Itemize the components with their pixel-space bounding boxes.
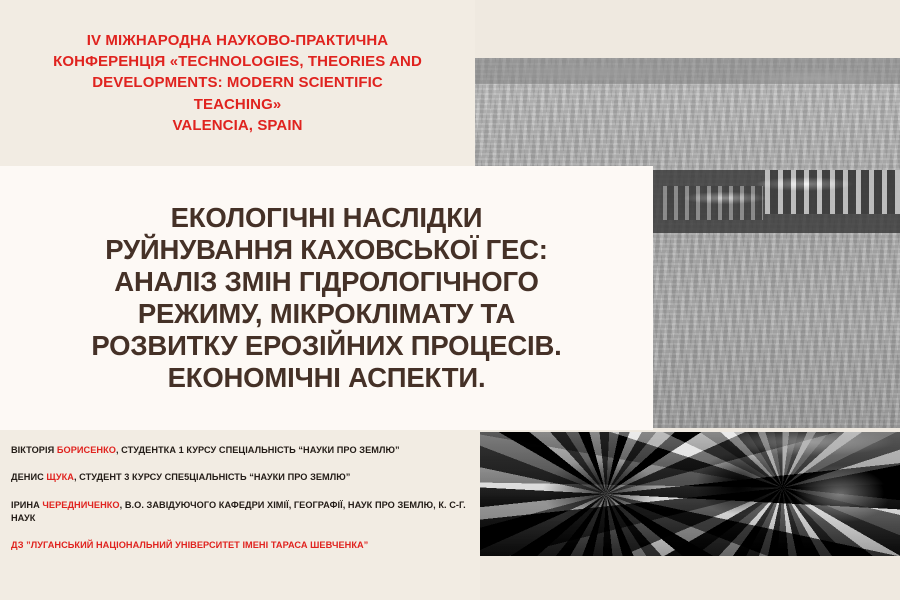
conference-header-text: IV МІЖНАРОДНА НАУКОВО-ПРАКТИЧНА КОНФЕРЕН…: [49, 30, 426, 136]
organization-name: ДЗ ”ЛУГАНСЬКИЙ НАЦІОНАЛЬНИЙ УНІВЕРСИТЕТ …: [11, 539, 469, 552]
header-line-4: TEACHING»: [53, 94, 422, 115]
title-line-3: АНАЛІЗ ЗМІН ГІДРОЛОГІЧНОГО: [91, 266, 561, 298]
header-line-1: IV МІЖНАРОДНА НАУКОВО-ПРАКТИЧНА: [53, 30, 422, 51]
author-role: , СТУДЕНТ 3 КУРСУ СПЕ5ЦІАЛЬНІСТЬ “НАУКИ …: [74, 472, 351, 482]
presentation-title-block: ЕКОЛОГІЧНІ НАСЛІДКИ РУЙНУВАННЯ КАХОВСЬКО…: [0, 166, 653, 430]
author-credit-line: ІРИНА ЧЕРЕДНИЧЕНКО, В.О. ЗАВІДУЮЧОГО КАФ…: [11, 499, 469, 526]
header-line-5: VALENCIA, SPAIN: [53, 115, 422, 136]
author-credit-line: ДЕНИС ЩУКА, СТУДЕНТ 3 КУРСУ СПЕ5ЦІАЛЬНІС…: [11, 471, 469, 484]
dam-piers-secondary-detail: [663, 186, 763, 220]
dam-piers-detail: [765, 170, 900, 214]
author-credit-line: ВІКТОРІЯ БОРИСЕНКО, СТУДЕНТКА 1 КУРСУ СП…: [11, 444, 469, 457]
presentation-slide: IV МІЖНАРОДНА НАУКОВО-ПРАКТИЧНА КОНФЕРЕН…: [0, 0, 900, 600]
author-first-name: ДЕНИС: [11, 472, 46, 482]
presentation-title: ЕКОЛОГІЧНІ НАСЛІДКИ РУЙНУВАННЯ КАХОВСЬКО…: [81, 202, 571, 393]
author-last-name: ЩУКА: [46, 472, 74, 482]
author-first-name: ВІКТОРІЯ: [11, 445, 57, 455]
header-line-3: DEVELOPMENTS: MODERN SCIENTIFIC: [53, 72, 422, 93]
title-line-1: ЕКОЛОГІЧНІ НАСЛІДКИ: [91, 202, 561, 234]
authors-credits-block: ВІКТОРІЯ БОРИСЕНКО, СТУДЕНТКА 1 КУРСУ СП…: [0, 430, 480, 600]
title-line-6: ЕКОНОМІЧНІ АСПЕКТИ.: [91, 362, 561, 394]
title-line-5: РОЗВИТКУ ЕРОЗІЙНИХ ПРОЦЕСІВ.: [91, 330, 561, 362]
conference-header-block: IV МІЖНАРОДНА НАУКОВО-ПРАКТИЧНА КОНФЕРЕН…: [0, 0, 475, 166]
title-line-4: РЕЖИМУ, МІКРОКЛІМАТУ ТА: [91, 298, 561, 330]
header-line-2: КОНФЕРЕНЦІЯ «TECHNOLOGIES, THEORIES AND: [53, 51, 422, 72]
author-first-name: ІРИНА: [11, 500, 42, 510]
author-role: , СТУДЕНТКА 1 КУРСУ СПЕЦІАЛЬНІСТЬ “НАУКИ…: [116, 445, 400, 455]
title-line-2: РУЙНУВАННЯ КАХОВСЬКОЇ ГЕС:: [91, 234, 561, 266]
author-last-name: БОРИСЕНКО: [57, 445, 116, 455]
author-last-name: ЧЕРЕДНИЧЕНКО: [42, 500, 119, 510]
eroded-terrain-photo: [480, 432, 900, 556]
